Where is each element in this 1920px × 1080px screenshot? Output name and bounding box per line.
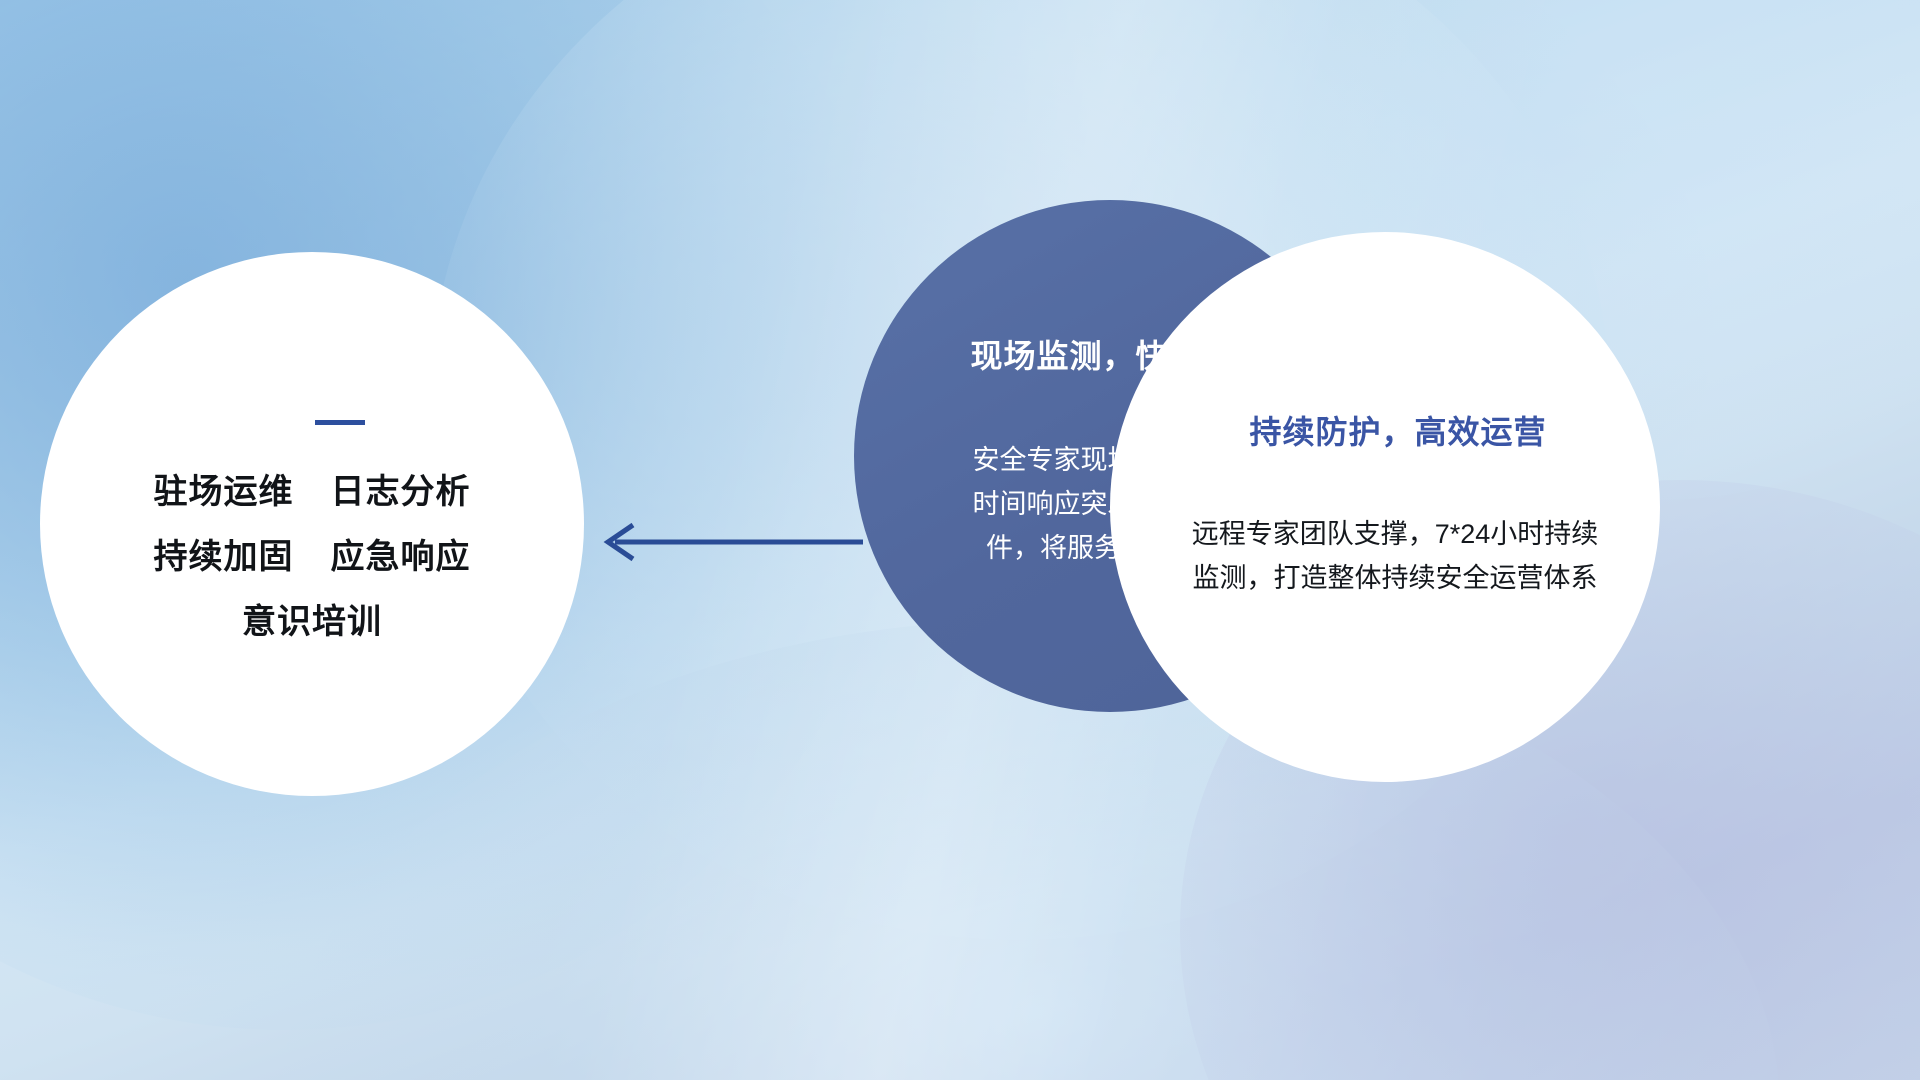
keyword-item: 意识培训 <box>242 605 382 639</box>
capability-circle-left: 驻场运维 日志分析 持续加固 应急响应 意识培训 <box>40 252 584 796</box>
right-circle-title: 持续防护，高效运营 <box>1223 407 1546 453</box>
right-circle-content: 持续防护，高效运营 远程专家团队支撑，7*24小时持续监测，打造整体持续安全运营… <box>1110 232 1660 782</box>
keyword-row: 意识培训 <box>242 605 382 639</box>
capability-circle-right: 持续防护，高效运营 远程专家团队支撑，7*24小时持续监测，打造整体持续安全运营… <box>1110 232 1660 782</box>
keyword-list: 驻场运维 日志分析 持续加固 应急响应 意识培训 <box>154 475 471 639</box>
keyword-row: 持续加固 应急响应 <box>154 540 471 574</box>
keyword-item: 驻场运维 <box>154 475 294 509</box>
keyword-item: 日志分析 <box>331 475 471 509</box>
flow-arrow-left-icon <box>595 515 865 569</box>
keyword-row: 驻场运维 日志分析 <box>154 475 471 509</box>
divider-dash <box>315 420 365 425</box>
keyword-item: 应急响应 <box>331 540 471 574</box>
right-circle-body: 远程专家团队支撑，7*24小时持续监测，打造整体持续安全运营体系 <box>1160 513 1610 600</box>
left-circle-content: 驻场运维 日志分析 持续加固 应急响应 意识培训 <box>40 252 584 796</box>
keyword-item: 持续加固 <box>154 540 294 574</box>
slide-canvas: 驻场运维 日志分析 持续加固 应急响应 意识培训 现场监测，快速响应 安全专家现… <box>0 0 1920 1080</box>
